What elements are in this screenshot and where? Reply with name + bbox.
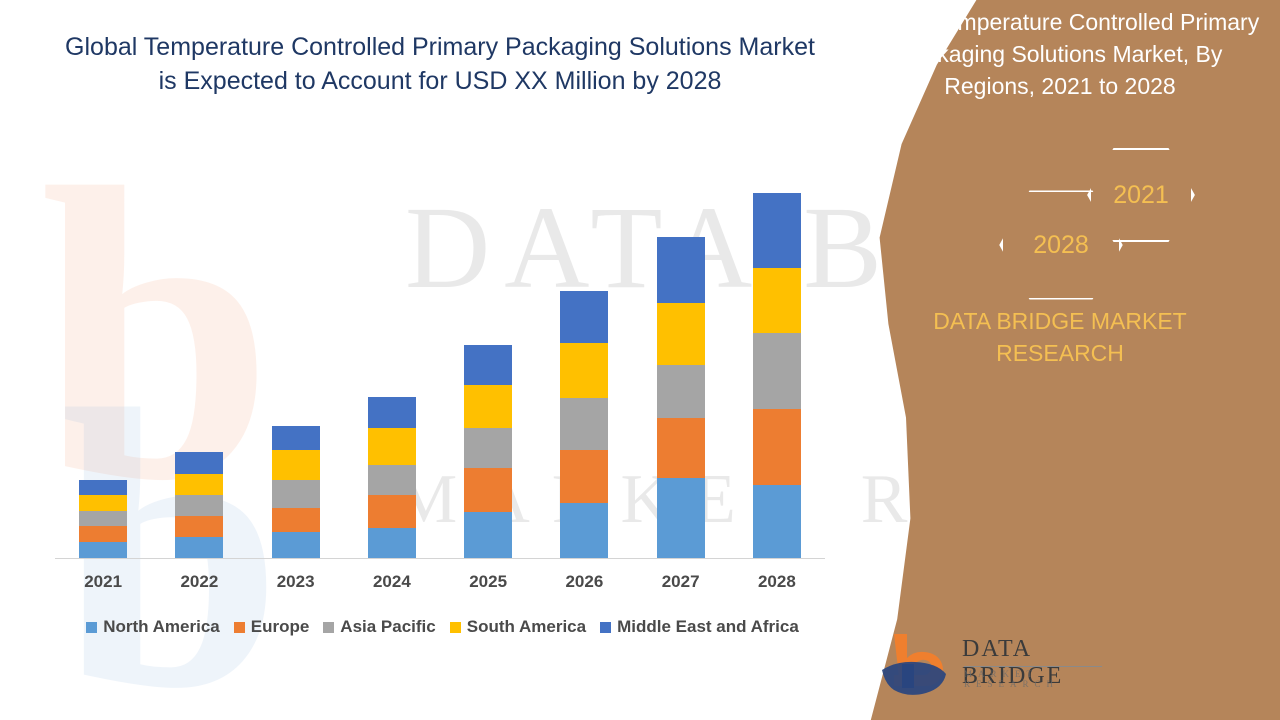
- bar-segment: [464, 468, 512, 512]
- bar-2025: [464, 345, 512, 558]
- bar-segment: [272, 480, 320, 508]
- legend-label: South America: [467, 617, 586, 637]
- bar-segment: [175, 452, 223, 474]
- x-axis-label-2025: 2025: [464, 572, 512, 592]
- bar-segment: [464, 428, 512, 468]
- hexagon-group: 2021 2028: [972, 145, 1202, 280]
- legend-item-north-america[interactable]: North America: [86, 617, 220, 637]
- data-bridge-logo: DATA BRIDGE MARKET RESEARCH: [880, 630, 1110, 702]
- x-axis-label-2021: 2021: [79, 572, 127, 592]
- bar-segment: [272, 508, 320, 532]
- logo-divider: [964, 666, 1102, 667]
- bar-2023: [272, 426, 320, 558]
- bar-segment: [753, 409, 801, 485]
- bar-segment: [79, 495, 127, 511]
- legend-item-south-america[interactable]: South America: [450, 617, 586, 637]
- x-axis-label-2027: 2027: [657, 572, 705, 592]
- infographic-root: b b DATA BRIDGE MARKET RESEARCH Global T…: [0, 0, 1280, 720]
- hexagon-year-start-label: 2021: [1113, 181, 1169, 210]
- bar-segment: [753, 268, 801, 333]
- legend-label: Europe: [251, 617, 310, 637]
- bar-segment: [560, 343, 608, 398]
- bar-segment: [657, 365, 705, 418]
- bar-segment: [657, 478, 705, 558]
- x-axis-label-2022: 2022: [175, 572, 223, 592]
- bar-segment: [560, 503, 608, 558]
- hexagon-year-end-label: 2028: [1033, 231, 1089, 260]
- bar-segment: [560, 450, 608, 503]
- bar-segment: [79, 511, 127, 526]
- bar-segment: [368, 397, 416, 428]
- bar-segment: [753, 193, 801, 268]
- panel-brand-text: DATA BRIDGE MARKET RESEARCH: [840, 305, 1280, 369]
- chart-title: Global Temperature Controlled Primary Pa…: [60, 30, 820, 98]
- legend-swatch-icon: [323, 622, 334, 633]
- bar-segment: [753, 333, 801, 409]
- bar-2024: [368, 397, 416, 558]
- legend-label: North America: [103, 617, 220, 637]
- bar-segment: [368, 465, 416, 495]
- bar-2022: [175, 452, 223, 558]
- legend-item-middle-east-and-africa[interactable]: Middle East and Africa: [600, 617, 799, 637]
- bar-segment: [657, 237, 705, 303]
- bar-segment: [753, 485, 801, 558]
- bar-segment: [657, 303, 705, 365]
- bar-2027: [657, 237, 705, 558]
- bar-2026: [560, 291, 608, 558]
- legend-item-asia-pacific[interactable]: Asia Pacific: [323, 617, 435, 637]
- bar-segment: [272, 450, 320, 480]
- bar-segment: [368, 428, 416, 465]
- bar-2028: [753, 193, 801, 558]
- bar-segment: [368, 528, 416, 558]
- x-axis-line: [55, 558, 825, 559]
- legend-label: Middle East and Africa: [617, 617, 799, 637]
- legend-swatch-icon: [86, 622, 97, 633]
- bar-segment: [175, 516, 223, 537]
- chart-legend: North AmericaEuropeAsia PacificSouth Ame…: [55, 617, 830, 637]
- legend-item-europe[interactable]: Europe: [234, 617, 310, 637]
- logo-mark-icon: [880, 630, 960, 696]
- bar-segment: [560, 291, 608, 343]
- bar-segment: [464, 512, 512, 558]
- bar-2021: [79, 480, 127, 558]
- x-axis-label-2026: 2026: [560, 572, 608, 592]
- legend-swatch-icon: [234, 622, 245, 633]
- x-axis-label-2028: 2028: [753, 572, 801, 592]
- bar-segment: [175, 537, 223, 558]
- legend-swatch-icon: [600, 622, 611, 633]
- legend-label: Asia Pacific: [340, 617, 435, 637]
- bar-segment: [560, 398, 608, 450]
- stacked-bar-plot: [55, 150, 825, 558]
- bar-segment: [175, 495, 223, 516]
- x-axis-labels: 20212022202320242025202620272028: [55, 572, 825, 592]
- bar-segment: [79, 526, 127, 542]
- bar-segment: [79, 480, 127, 495]
- bar-segment: [175, 474, 223, 495]
- bar-segment: [464, 385, 512, 428]
- bar-segment: [272, 426, 320, 450]
- panel-title: Global Temperature Controlled Primary Pa…: [840, 6, 1280, 102]
- bar-segment: [368, 495, 416, 528]
- logo-tagline: MARKET RESEARCH: [964, 669, 1110, 689]
- bar-segment: [464, 345, 512, 385]
- bar-segment: [79, 542, 127, 558]
- x-axis-label-2023: 2023: [272, 572, 320, 592]
- bar-segment: [657, 418, 705, 478]
- x-axis-label-2024: 2024: [368, 572, 416, 592]
- bar-segment: [272, 532, 320, 558]
- legend-swatch-icon: [450, 622, 461, 633]
